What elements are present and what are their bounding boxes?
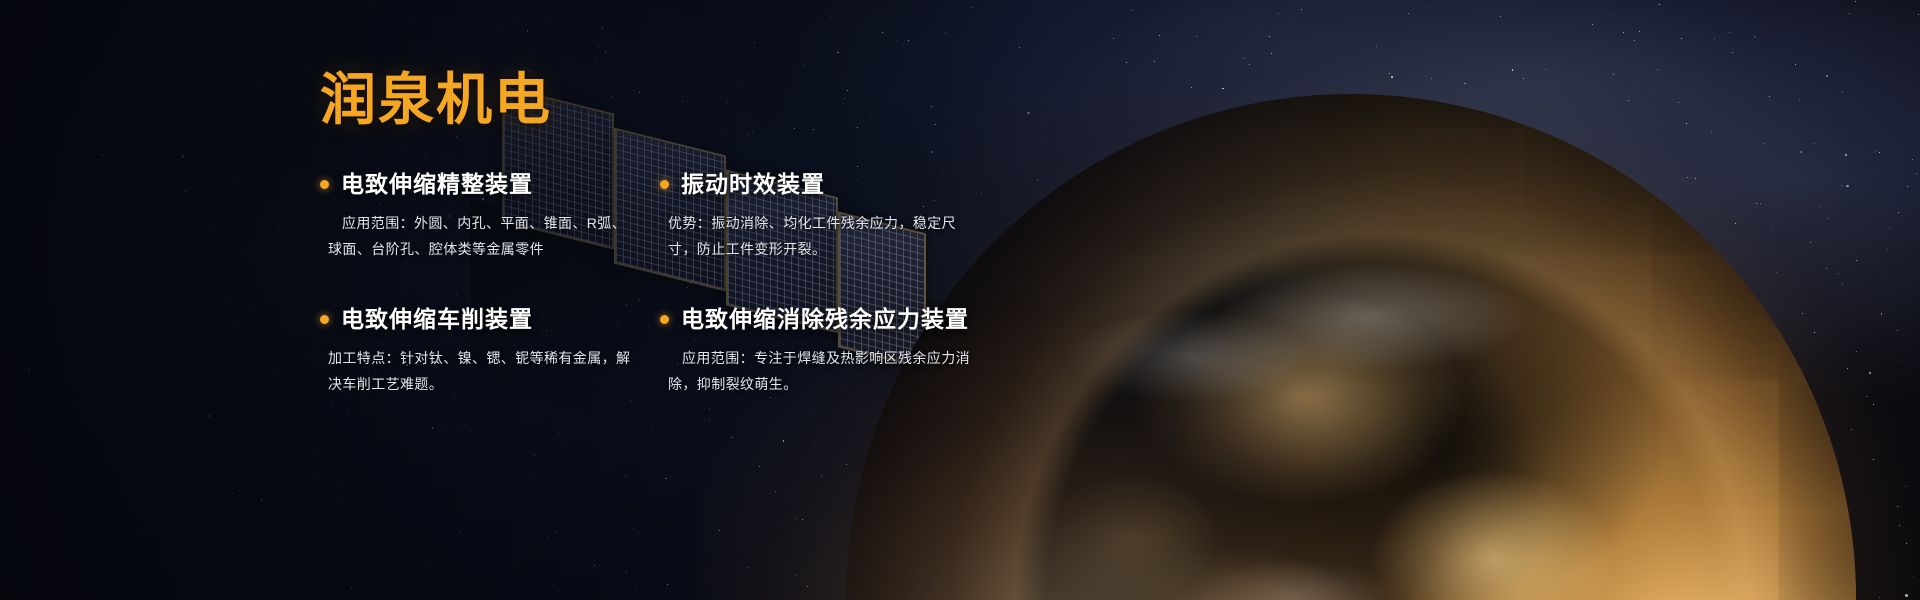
brand-title: 润泉机电 xyxy=(320,72,1040,128)
feature-title: 电致伸缩精整装置 xyxy=(341,172,533,197)
feature-item-2[interactable]: 振动时效装置 优势：振动消除、均化工件残余应力，稳定尺寸，防止工件变形开裂。 xyxy=(660,172,990,263)
feature-body: 加工特点：针对钛、镍、锶、铌等稀有金属，解决车削工艺难题。 xyxy=(320,346,638,398)
bullet-dot-icon xyxy=(320,315,329,324)
feature-item-1[interactable]: 电致伸缩精整装置 应用范围：外圆、内孔、平面、锥面、R弧、球面、台阶孔、腔体类等… xyxy=(320,172,650,263)
feature-title: 电致伸缩车削装置 xyxy=(341,307,533,332)
feature-item-3[interactable]: 电致伸缩车削装置 加工特点：针对钛、镍、锶、铌等稀有金属，解决车削工艺难题。 xyxy=(320,307,650,398)
bullet-dot-icon xyxy=(660,180,669,189)
feature-heading: 电致伸缩精整装置 xyxy=(320,172,650,197)
feature-item-4[interactable]: 电致伸缩消除残余应力装置 应用范围：专注于焊缝及热影响区残余应力消除，抑制裂纹萌… xyxy=(660,307,990,398)
feature-body: 应用范围：外圆、内孔、平面、锥面、R弧、球面、台阶孔、腔体类等金属零件 xyxy=(320,211,638,263)
bullet-dot-icon xyxy=(320,180,329,189)
feature-grid: 电致伸缩精整装置 应用范围：外圆、内孔、平面、锥面、R弧、球面、台阶孔、腔体类等… xyxy=(320,172,1040,398)
feature-heading: 振动时效装置 xyxy=(660,172,990,197)
feature-heading: 电致伸缩消除残余应力装置 xyxy=(660,307,990,332)
feature-heading: 电致伸缩车削装置 xyxy=(320,307,650,332)
banner-content: 润泉机电 电致伸缩精整装置 应用范围：外圆、内孔、平面、锥面、R弧、球面、台阶孔… xyxy=(320,72,1040,398)
feature-body: 优势：振动消除、均化工件残余应力，稳定尺寸，防止工件变形开裂。 xyxy=(660,211,978,263)
feature-body: 应用范围：专注于焊缝及热影响区残余应力消除，抑制裂纹萌生。 xyxy=(660,346,978,398)
bullet-dot-icon xyxy=(660,315,669,324)
feature-title: 电致伸缩消除残余应力装置 xyxy=(681,307,969,332)
feature-title: 振动时效装置 xyxy=(681,172,825,197)
hero-banner: 润泉机电 电致伸缩精整装置 应用范围：外圆、内孔、平面、锥面、R弧、球面、台阶孔… xyxy=(0,0,1920,600)
